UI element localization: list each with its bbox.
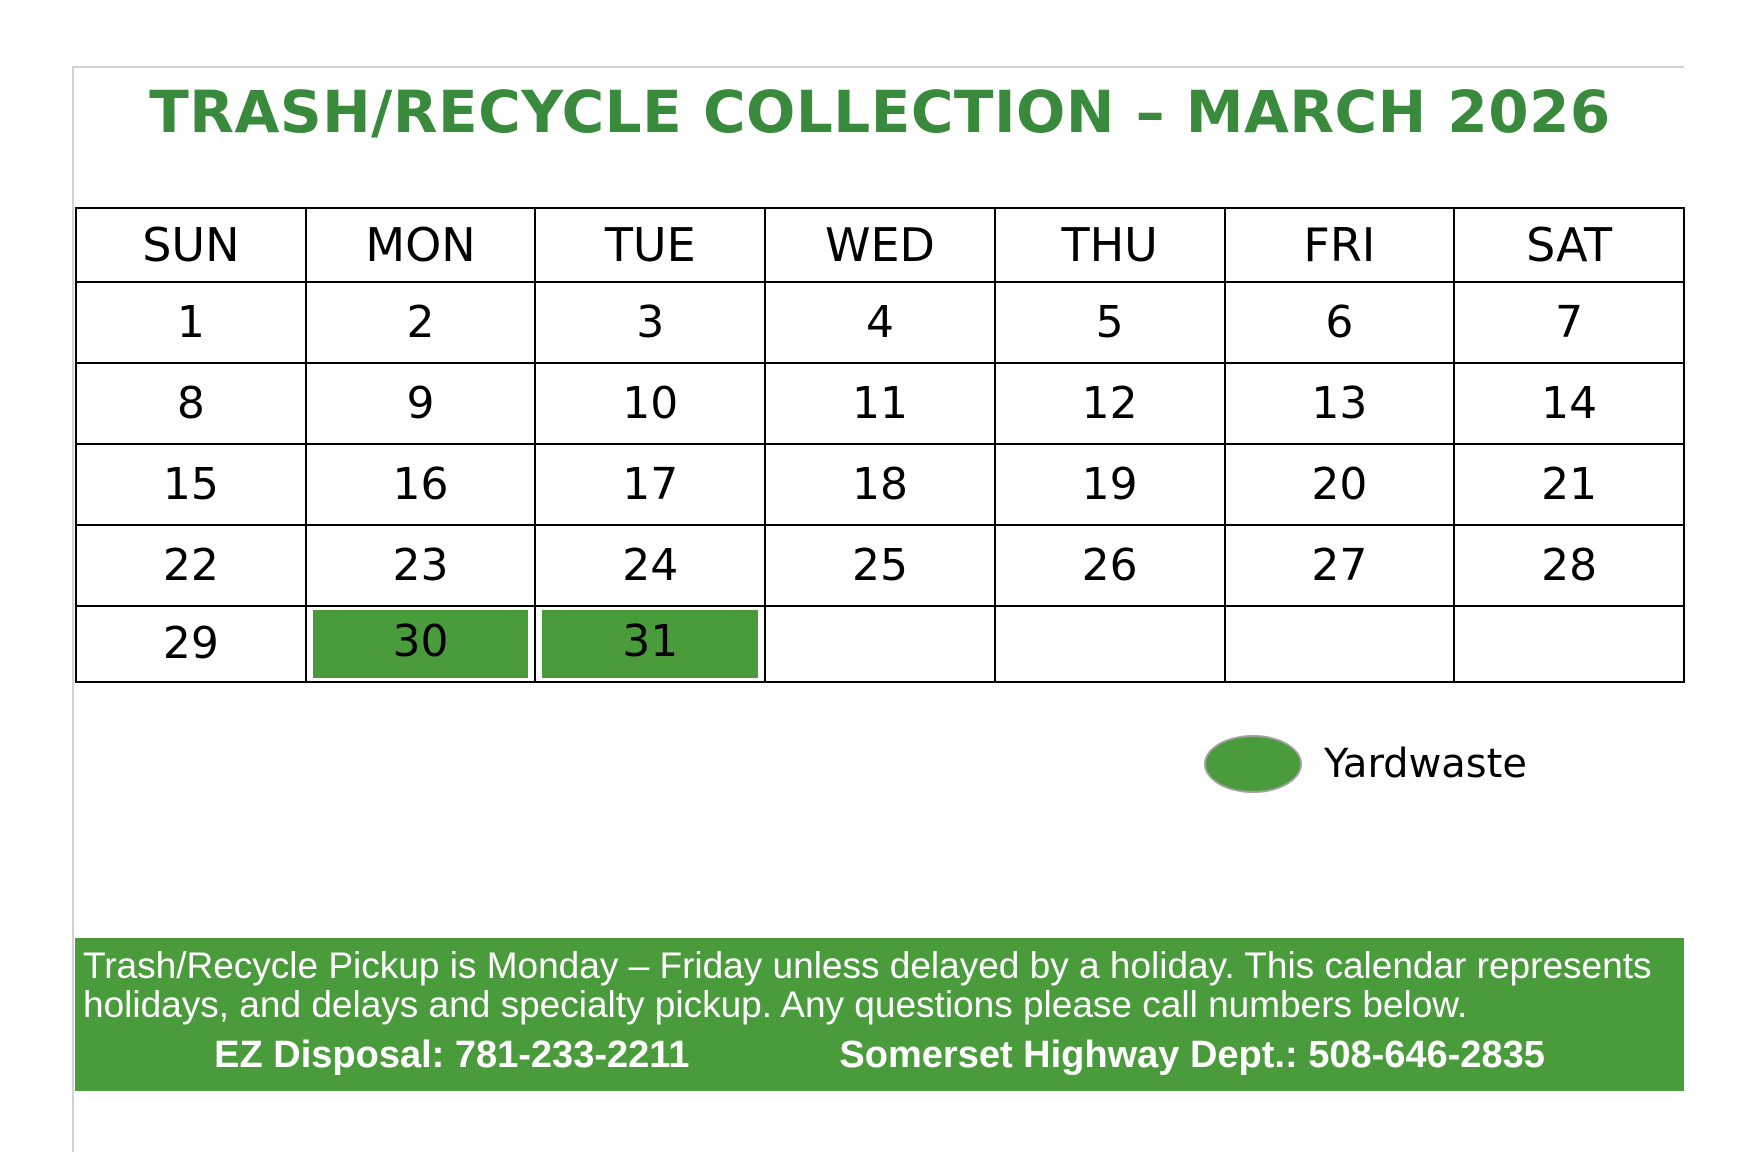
day-cell[interactable]: 26 [995, 525, 1225, 606]
day-cell[interactable]: 9 [306, 363, 536, 444]
day-number: 20 [1226, 445, 1454, 524]
page-frame-top-rule [72, 66, 1684, 68]
day-number: 14 [1455, 364, 1683, 443]
day-cell[interactable]: 7 [1454, 282, 1684, 363]
day-number: 1 [77, 283, 305, 362]
day-number: 25 [766, 526, 994, 605]
calendar-week-row: 15 16 17 18 19 20 21 [76, 444, 1684, 525]
day-cell-empty [995, 606, 1225, 682]
calendar-grid: SUN MON TUE WED THU FRI SAT 1 2 3 4 5 6 … [75, 207, 1685, 683]
day-cell-empty [765, 606, 995, 682]
day-number: 15 [77, 445, 305, 524]
day-number: 21 [1455, 445, 1683, 524]
day-number: 13 [1226, 364, 1454, 443]
day-number: 29 [77, 607, 305, 681]
day-number: 22 [77, 526, 305, 605]
day-number: 18 [766, 445, 994, 524]
day-cell-empty [1454, 606, 1684, 682]
footer-banner: Trash/Recycle Pickup is Monday – Friday … [75, 938, 1684, 1091]
footer-note-text: Trash/Recycle Pickup is Monday – Friday … [75, 946, 1684, 1024]
day-cell[interactable]: 4 [765, 282, 995, 363]
day-cell[interactable]: 1 [76, 282, 306, 363]
day-cell[interactable]: 23 [306, 525, 536, 606]
day-cell-empty [1225, 606, 1455, 682]
day-number: 28 [1455, 526, 1683, 605]
day-cell[interactable]: 3 [535, 282, 765, 363]
calendar-week-row: 22 23 24 25 26 27 28 [76, 525, 1684, 606]
calendar-header-row: SUN MON TUE WED THU FRI SAT [76, 208, 1684, 282]
weekday-header-sat: SAT [1454, 208, 1684, 282]
day-number: 9 [307, 364, 535, 443]
day-number: 30 [313, 610, 529, 678]
day-cell[interactable]: 29 [76, 606, 306, 682]
day-cell[interactable]: 14 [1454, 363, 1684, 444]
weekday-header-sun: SUN [76, 208, 306, 282]
legend-label-yardwaste: Yardwaste [1324, 741, 1527, 787]
contact-ez-disposal: EZ Disposal: 781-233-2211 [214, 1034, 689, 1077]
day-cell[interactable]: 13 [1225, 363, 1455, 444]
weekday-header-tue: TUE [535, 208, 765, 282]
day-number: 19 [996, 445, 1224, 524]
day-cell[interactable]: 25 [765, 525, 995, 606]
day-cell[interactable]: 24 [535, 525, 765, 606]
day-number [1455, 607, 1683, 681]
day-cell[interactable]: 15 [76, 444, 306, 525]
day-number: 2 [307, 283, 535, 362]
day-cell[interactable]: 27 [1225, 525, 1455, 606]
day-number [1226, 607, 1454, 681]
day-number: 23 [307, 526, 535, 605]
day-cell[interactable]: 2 [306, 282, 536, 363]
day-number: 8 [77, 364, 305, 443]
day-cell[interactable]: 10 [535, 363, 765, 444]
day-number: 6 [1226, 283, 1454, 362]
day-number: 4 [766, 283, 994, 362]
weekday-header-fri: FRI [1225, 208, 1455, 282]
day-cell[interactable]: 6 [1225, 282, 1455, 363]
day-number: 27 [1226, 526, 1454, 605]
calendar-page: TRASH/RECYCLE COLLECTION – MARCH 2026 SU… [0, 0, 1754, 1152]
day-cell[interactable]: 18 [765, 444, 995, 525]
page-title: TRASH/RECYCLE COLLECTION – MARCH 2026 [80, 78, 1680, 146]
weekday-header-thu: THU [995, 208, 1225, 282]
day-number [996, 607, 1224, 681]
weekday-header-wed: WED [765, 208, 995, 282]
day-cell-yardwaste[interactable]: 30 [306, 606, 536, 682]
day-cell[interactable]: 17 [535, 444, 765, 525]
day-number: 12 [996, 364, 1224, 443]
day-cell[interactable]: 16 [306, 444, 536, 525]
day-number: 26 [996, 526, 1224, 605]
day-cell[interactable]: 20 [1225, 444, 1455, 525]
day-number [766, 607, 994, 681]
day-number: 17 [536, 445, 764, 524]
calendar-week-row: 29 30 31 [76, 606, 1684, 682]
green-ellipse-icon [1204, 735, 1302, 793]
day-cell-yardwaste[interactable]: 31 [535, 606, 765, 682]
weekday-header-mon: MON [306, 208, 536, 282]
day-number: 31 [542, 610, 758, 678]
day-number: 7 [1455, 283, 1683, 362]
day-cell[interactable]: 28 [1454, 525, 1684, 606]
day-cell[interactable]: 5 [995, 282, 1225, 363]
page-frame-left-rule [72, 66, 74, 1152]
day-cell[interactable]: 19 [995, 444, 1225, 525]
day-number: 11 [766, 364, 994, 443]
day-cell[interactable]: 11 [765, 363, 995, 444]
day-number: 16 [307, 445, 535, 524]
contact-somerset-highway-dept: Somerset Highway Dept.: 508-646-2835 [839, 1034, 1544, 1077]
day-cell[interactable]: 12 [995, 363, 1225, 444]
legend: Yardwaste [1204, 735, 1527, 793]
day-number: 5 [996, 283, 1224, 362]
day-cell[interactable]: 8 [76, 363, 306, 444]
calendar-week-row: 8 9 10 11 12 13 14 [76, 363, 1684, 444]
day-number: 24 [536, 526, 764, 605]
calendar-week-row: 1 2 3 4 5 6 7 [76, 282, 1684, 363]
footer-contacts: EZ Disposal: 781-233-2211 Somerset Highw… [75, 1034, 1684, 1077]
day-number: 10 [536, 364, 764, 443]
day-cell[interactable]: 21 [1454, 444, 1684, 525]
day-cell[interactable]: 22 [76, 525, 306, 606]
day-number: 3 [536, 283, 764, 362]
